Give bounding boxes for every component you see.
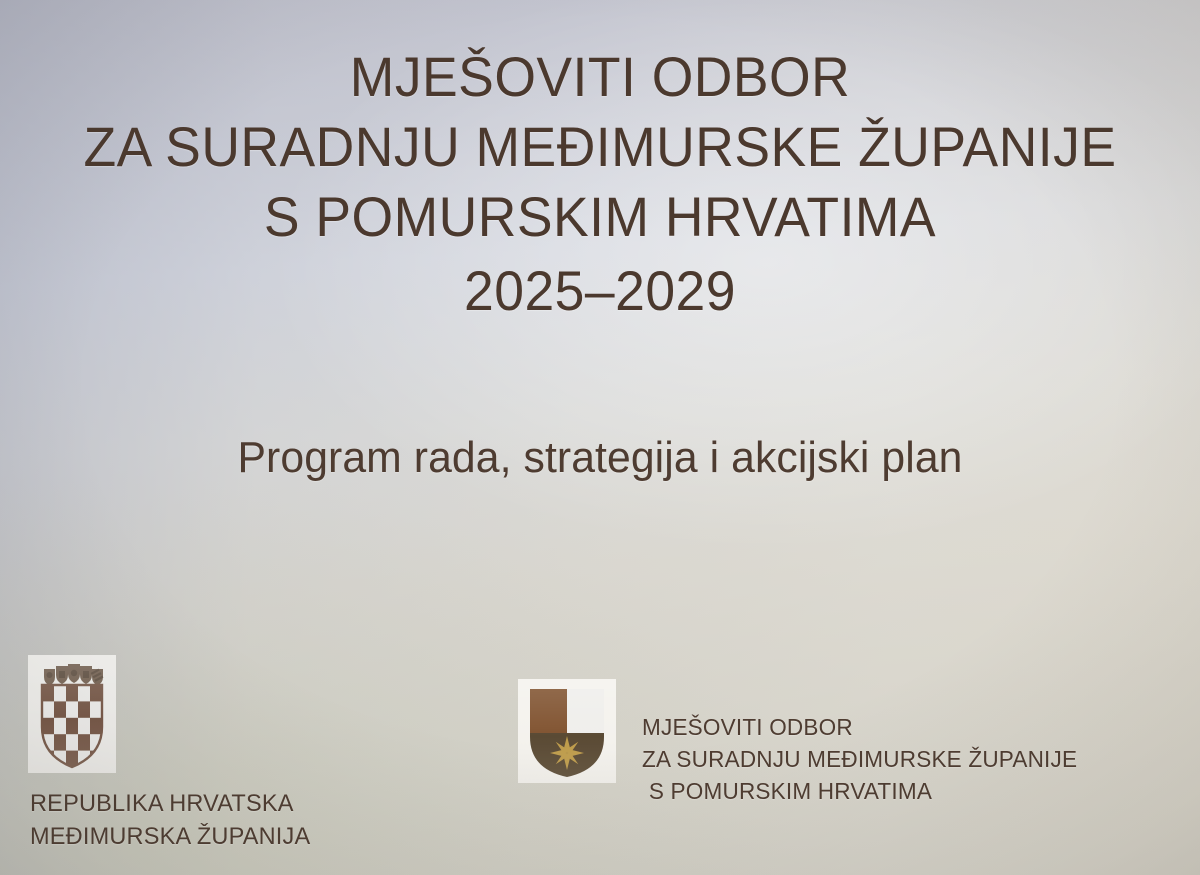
screen-vignette (0, 0, 1200, 875)
presentation-slide: MJEŠOVITI ODBOR ZA SURADNJU MEĐIMURSKE Ž… (0, 0, 1200, 875)
